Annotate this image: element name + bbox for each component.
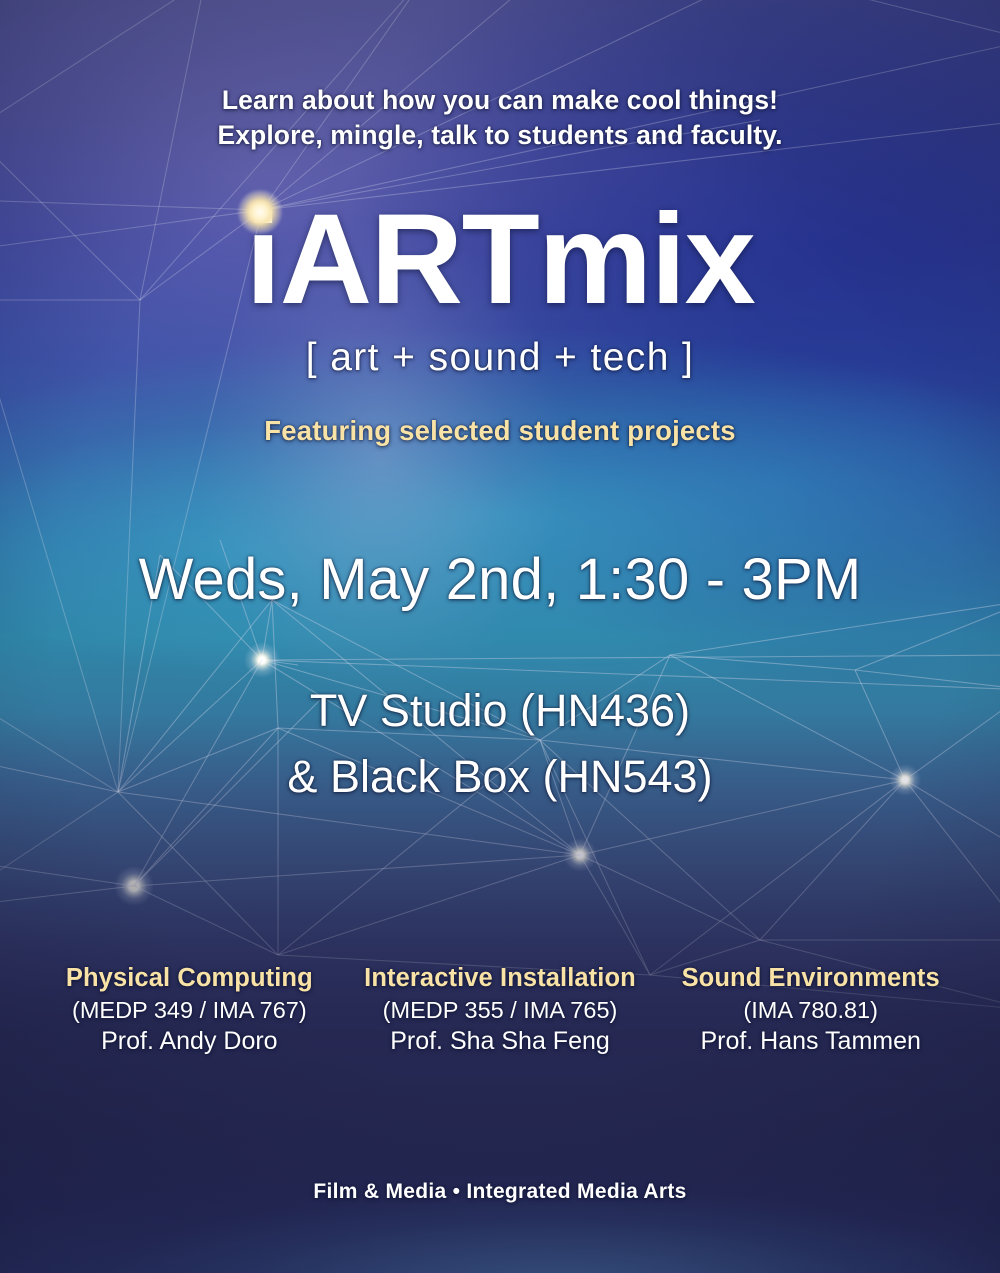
course-item: Sound Environments (IMA 780.81) Prof. Ha…: [655, 964, 966, 1056]
tagline-line-2: Explore, mingle, talk to students and fa…: [0, 118, 1000, 153]
course-professor: Prof. Andy Doro: [34, 1027, 345, 1056]
poster-title: iARTmix: [0, 196, 1000, 324]
poster-content: Learn about how you can make cool things…: [0, 0, 1000, 1273]
course-title: Sound Environments: [655, 964, 966, 993]
poster-subtitle: [ art + sound + tech ]: [0, 336, 1000, 380]
event-location: TV Studio (HN436) & Black Box (HN543): [0, 678, 1000, 809]
tagline-line-1: Learn about how you can make cool things…: [0, 83, 1000, 118]
location-line-2: & Black Box (HN543): [0, 744, 1000, 810]
course-code: (MEDP 355 / IMA 765): [345, 997, 656, 1024]
poster-canvas: .ln { stroke:#cfd4e8; stroke-width:1.05;…: [0, 0, 1000, 1273]
course-code: (MEDP 349 / IMA 767): [34, 997, 345, 1024]
course-title: Physical Computing: [34, 964, 345, 993]
title-block: iARTmix: [0, 196, 1000, 324]
course-title: Interactive Installation: [345, 964, 656, 993]
course-professor: Prof. Hans Tammen: [655, 1027, 966, 1056]
featuring-text: Featuring selected student projects: [0, 415, 1000, 447]
event-datetime: Weds, May 2nd, 1:30 - 3PM: [0, 546, 1000, 613]
glow-dot-icon: [238, 190, 282, 234]
course-code: (IMA 780.81): [655, 997, 966, 1024]
course-list: Physical Computing (MEDP 349 / IMA 767) …: [34, 964, 966, 1056]
tagline: Learn about how you can make cool things…: [0, 83, 1000, 153]
course-professor: Prof. Sha Sha Feng: [345, 1027, 656, 1056]
course-item: Physical Computing (MEDP 349 / IMA 767) …: [34, 964, 345, 1056]
location-line-1: TV Studio (HN436): [0, 678, 1000, 744]
poster-footer: Film & Media • Integrated Media Arts: [0, 1180, 1000, 1204]
course-item: Interactive Installation (MEDP 355 / IMA…: [345, 964, 656, 1056]
